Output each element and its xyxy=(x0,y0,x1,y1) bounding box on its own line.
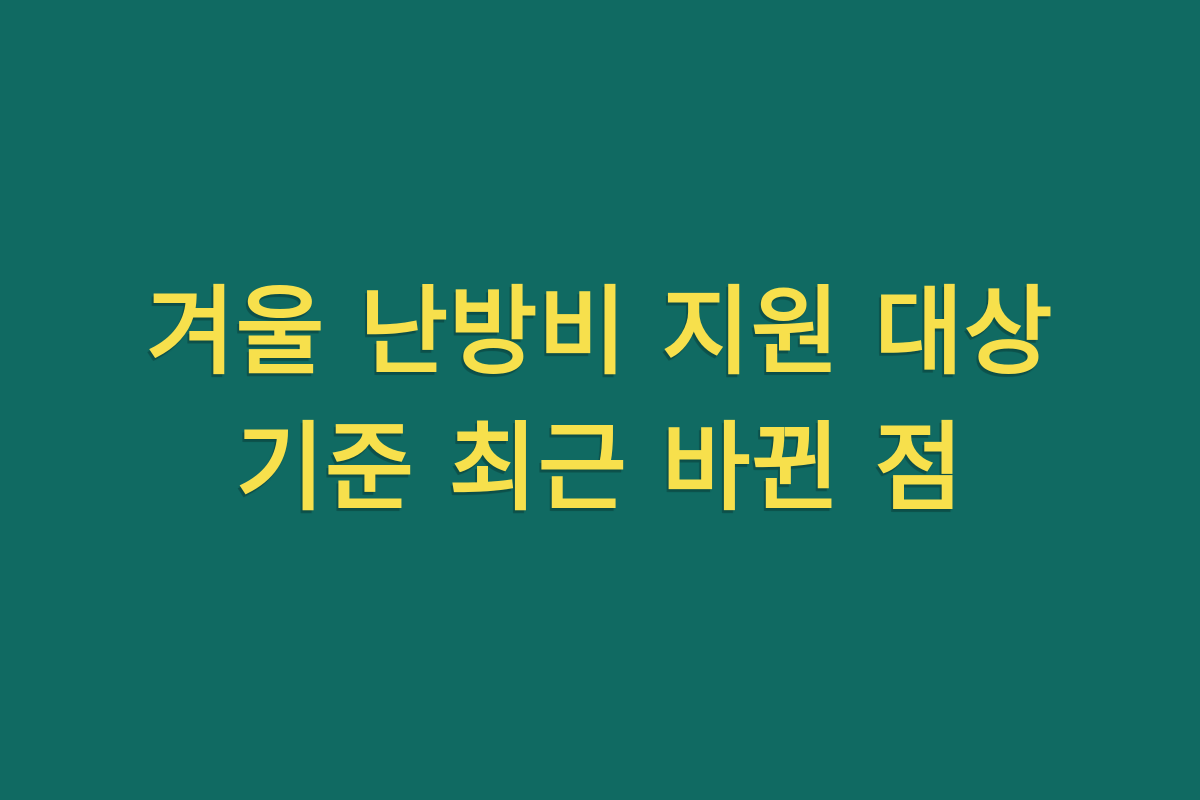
headline-line-2: 기준 최근 바뀐 점 xyxy=(0,400,1200,536)
headline: 겨울 난방비 지원 대상 기준 최근 바뀐 점 xyxy=(0,264,1200,537)
title-card: 겨울 난방비 지원 대상 기준 최근 바뀐 점 xyxy=(0,0,1200,800)
headline-line-1: 겨울 난방비 지원 대상 xyxy=(0,264,1200,400)
